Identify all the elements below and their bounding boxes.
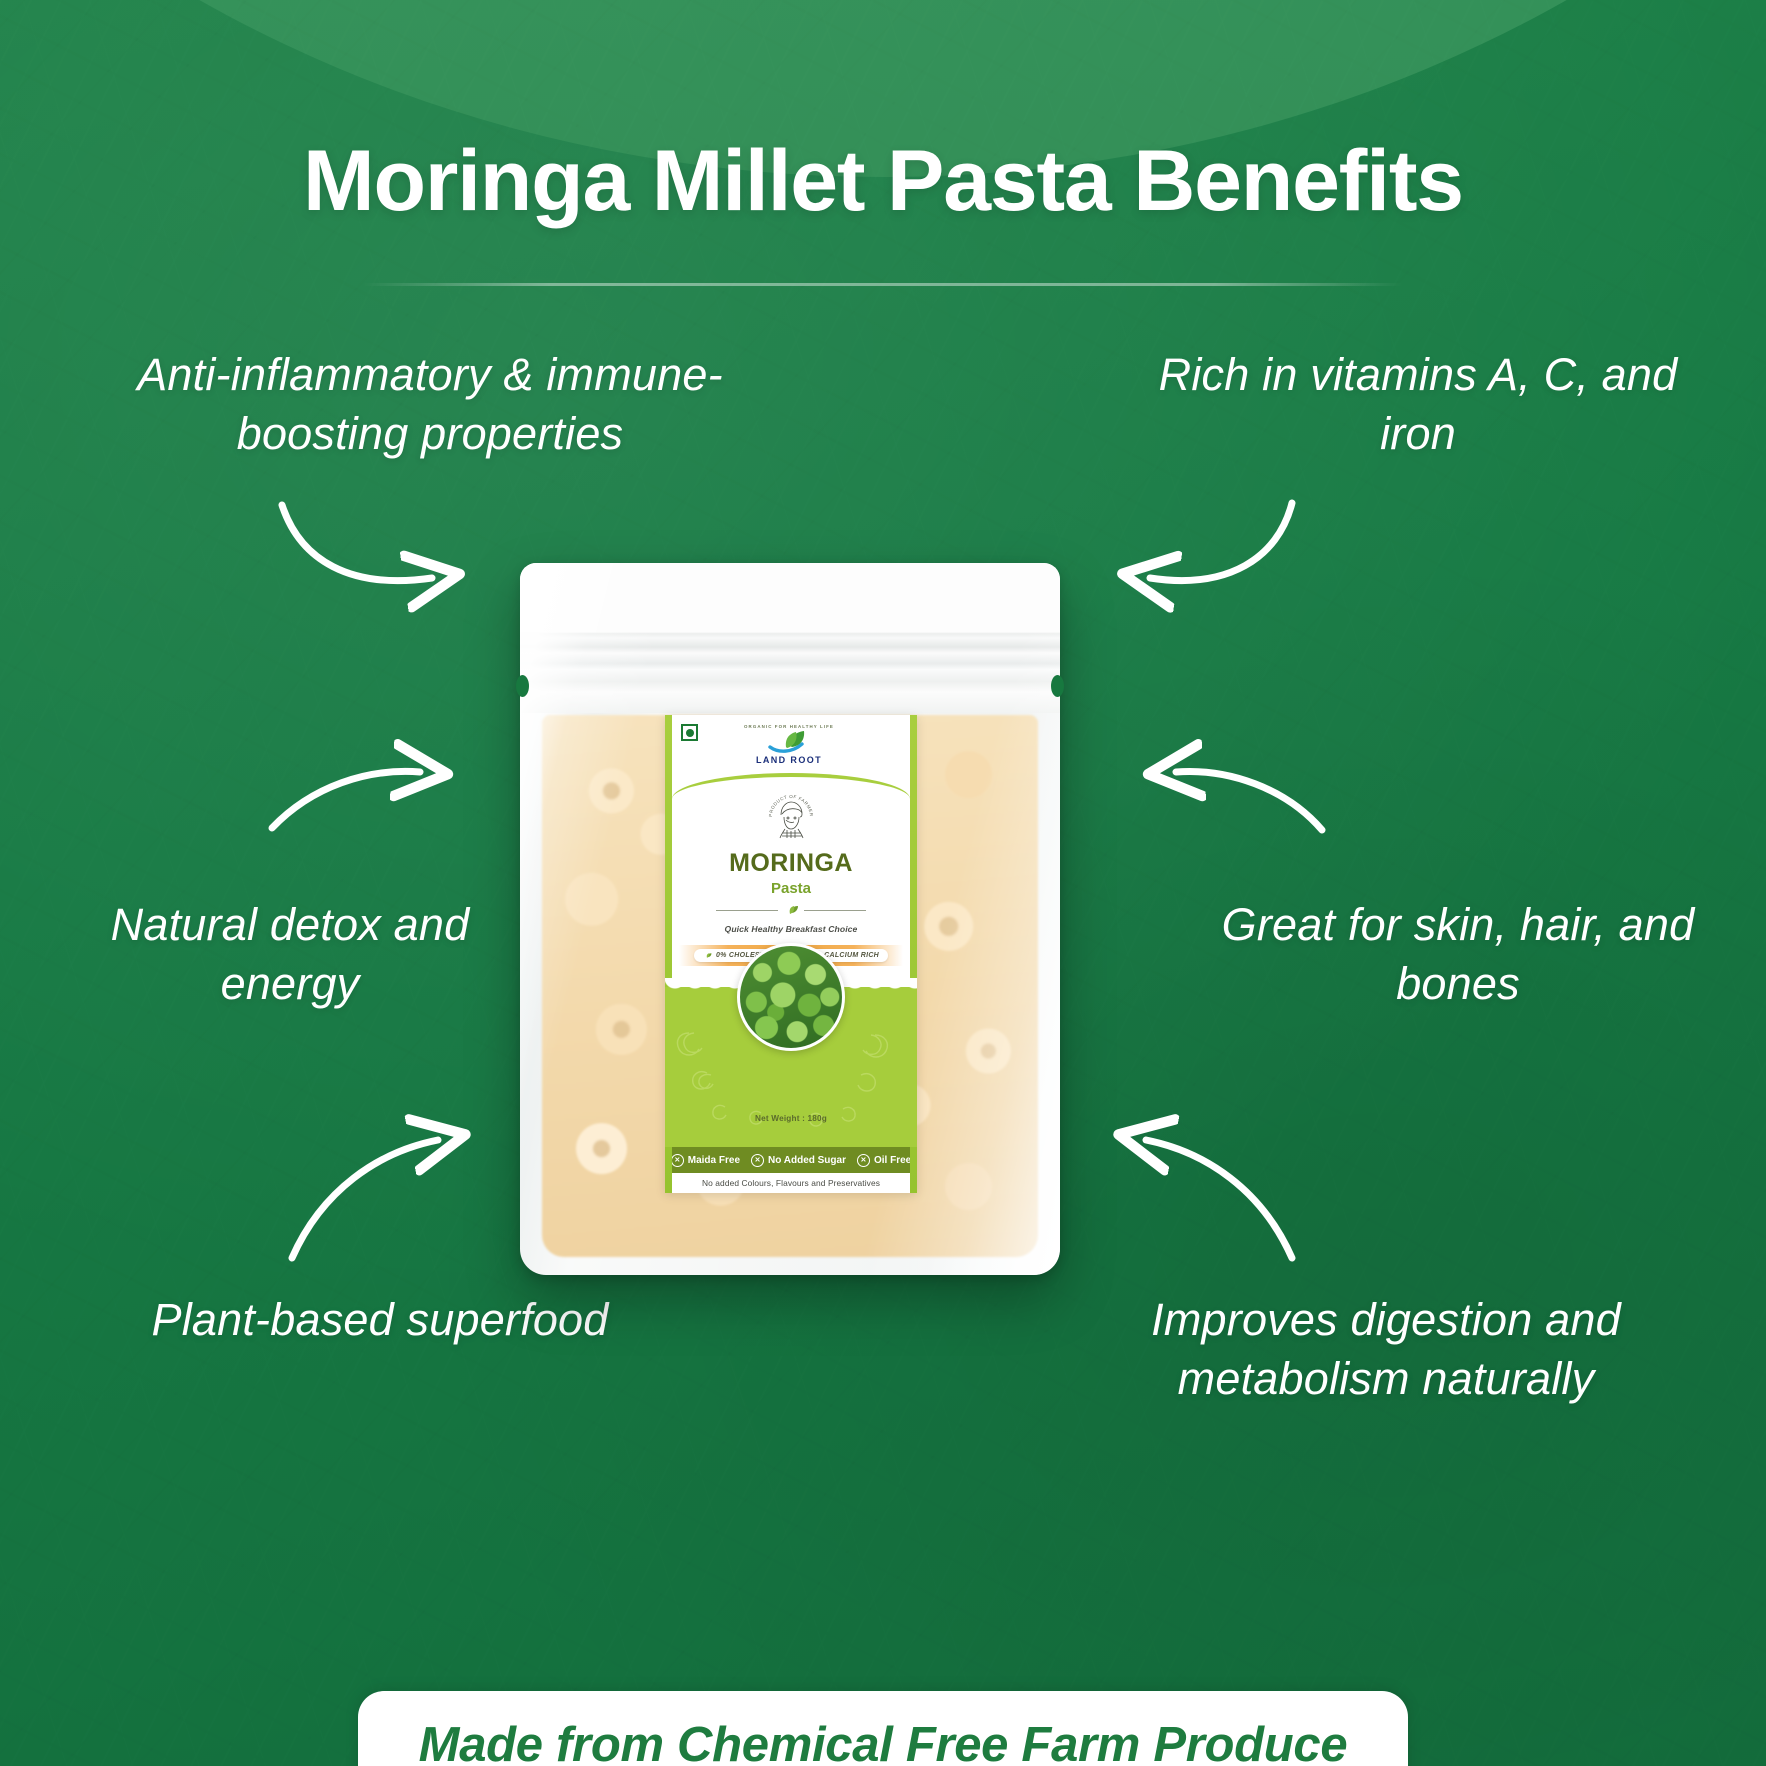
zip-notch-right <box>1051 675 1064 697</box>
leaf-icon <box>703 952 712 959</box>
product-label: ORGANIC FOR HEALTHY LIFE LAND ROOT <box>665 715 917 1193</box>
brand-block: ORGANIC FOR HEALTHY LIFE LAND ROOT <box>698 724 886 765</box>
benefit-anti-inflammatory: Anti-inflammatory & immune-boosting prop… <box>60 345 800 464</box>
claim-maida-free-label: Maida Free <box>688 1155 740 1166</box>
bottom-banner-text: Made from Chemical Free Farm Produce <box>419 1717 1348 1766</box>
leaf-icon <box>783 905 799 915</box>
sugar-free-icon: ✕ <box>751 1154 764 1167</box>
product-subtitle: Pasta <box>771 881 811 896</box>
benefit-detox: Natural detox and energy <box>60 895 520 1014</box>
label-footer-note: No added Colours, Flavours and Preservat… <box>665 1173 917 1193</box>
svg-text:PRODUCT OF FARMER: PRODUCT OF FARMER <box>768 794 814 817</box>
bottom-banner: Made from Chemical Free Farm Produce <box>358 1691 1408 1766</box>
claim-oil-free: ✕ Oil Free <box>857 1154 911 1167</box>
vegetarian-mark-icon <box>681 724 698 741</box>
vegetarian-dot <box>686 729 694 737</box>
leaf-divider <box>716 905 866 915</box>
benefit-plant-based: Plant-based superfood <box>120 1290 640 1349</box>
divider-rule-left <box>716 910 778 911</box>
benefit-skin-hair-bones: Great for skin, hair, and bones <box>1198 895 1718 1014</box>
label-claims-bar: ✕ Maida Free ✕ No Added Sugar ✕ Oil Free <box>665 1147 917 1173</box>
claim-oil-free-label: Oil Free <box>874 1155 911 1166</box>
product-tagline: Quick Healthy Breakfast Choice <box>725 924 858 934</box>
benefit-digestion: Improves digestion and metabolism natura… <box>1046 1290 1726 1409</box>
product-of-farmer-stamp-icon: PRODUCT OF FARMER <box>765 789 817 841</box>
brand-name: LAND ROOT <box>698 755 880 765</box>
benefit-vitamins: Rich in vitamins A, C, and iron <box>1118 345 1718 464</box>
wheat-free-icon: ✕ <box>671 1154 684 1167</box>
brand-arc-text: ORGANIC FOR HEALTHY LIFE <box>698 724 880 729</box>
page-title: Moringa Millet Pasta Benefits <box>0 138 1766 224</box>
net-weight: Net Weight : 180g <box>665 1114 917 1123</box>
bag-body: ORGANIC FOR HEALTHY LIFE LAND ROOT <box>520 563 1060 1275</box>
label-green-panel: Net Weight : 180g <box>665 987 917 1147</box>
title-divider <box>363 283 1403 286</box>
product-package: ORGANIC FOR HEALTHY LIFE LAND ROOT <box>520 563 1060 1275</box>
claim-maida-free: ✕ Maida Free <box>671 1154 740 1167</box>
claim-no-added-sugar-label: No Added Sugar <box>768 1155 846 1166</box>
zip-notch-left <box>516 675 529 697</box>
brand-leaf-logo-icon <box>698 730 880 754</box>
product-name: MORINGA <box>729 851 853 876</box>
badge-calcium-label: CALCIUM RICH <box>824 952 879 959</box>
zip-lock-top <box>520 563 1060 713</box>
label-header: ORGANIC FOR HEALTHY LIFE LAND ROOT <box>665 715 917 787</box>
divider-rule-right <box>804 910 866 911</box>
oil-free-icon: ✕ <box>857 1154 870 1167</box>
moringa-leaves-photo <box>737 943 845 1051</box>
claim-no-added-sugar: ✕ No Added Sugar <box>751 1154 846 1167</box>
